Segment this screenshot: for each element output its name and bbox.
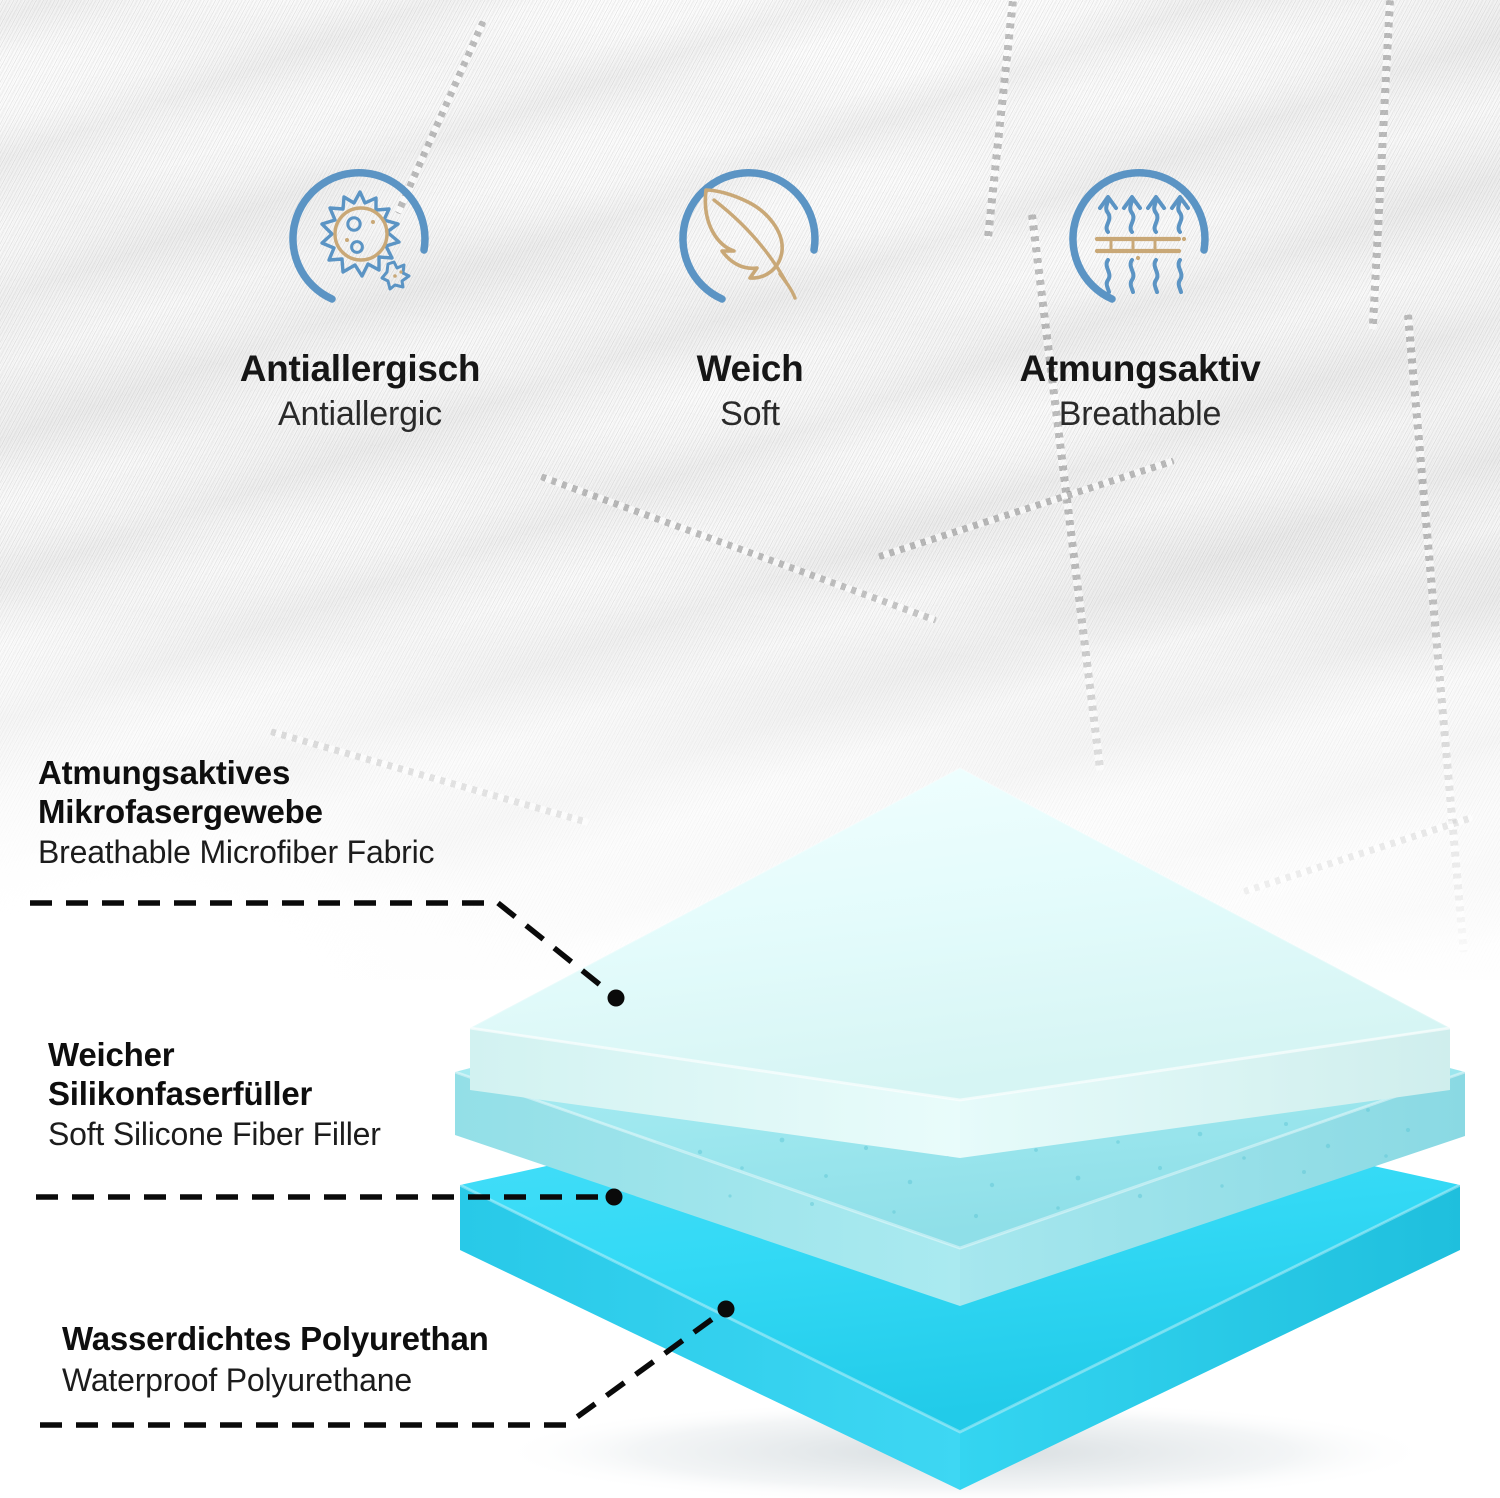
leader-lines bbox=[0, 0, 1500, 1498]
callout-subtitle-en: Breathable Microfiber Fabric bbox=[38, 833, 434, 871]
callout-title-de: Wasserdichtes Polyurethan bbox=[62, 1320, 489, 1359]
infographic-canvas: Antiallergisch Antiallergic Weich Soft bbox=[0, 0, 1500, 1498]
callout-microfiber-fabric: Atmungsaktives Mikrofasergewebe Breathab… bbox=[38, 754, 434, 872]
callout-subtitle-en: Soft Silicone Fiber Filler bbox=[48, 1115, 381, 1153]
callout-silicone-filler: Weicher Silikonfaserfüller Soft Silicone… bbox=[48, 1036, 381, 1154]
leader-dot-fabric bbox=[608, 990, 625, 1007]
callout-waterproof-polyurethane: Wasserdichtes Polyurethan Waterproof Pol… bbox=[62, 1320, 489, 1399]
leader-dot-polyurethane bbox=[718, 1301, 735, 1318]
callout-subtitle-en: Waterproof Polyurethane bbox=[62, 1361, 489, 1399]
leader-line-fabric bbox=[30, 903, 614, 996]
callout-title-de: Atmungsaktives Mikrofasergewebe bbox=[38, 754, 434, 831]
callout-title-de: Weicher Silikonfaserfüller bbox=[48, 1036, 381, 1113]
leader-dot-filler bbox=[606, 1189, 623, 1206]
